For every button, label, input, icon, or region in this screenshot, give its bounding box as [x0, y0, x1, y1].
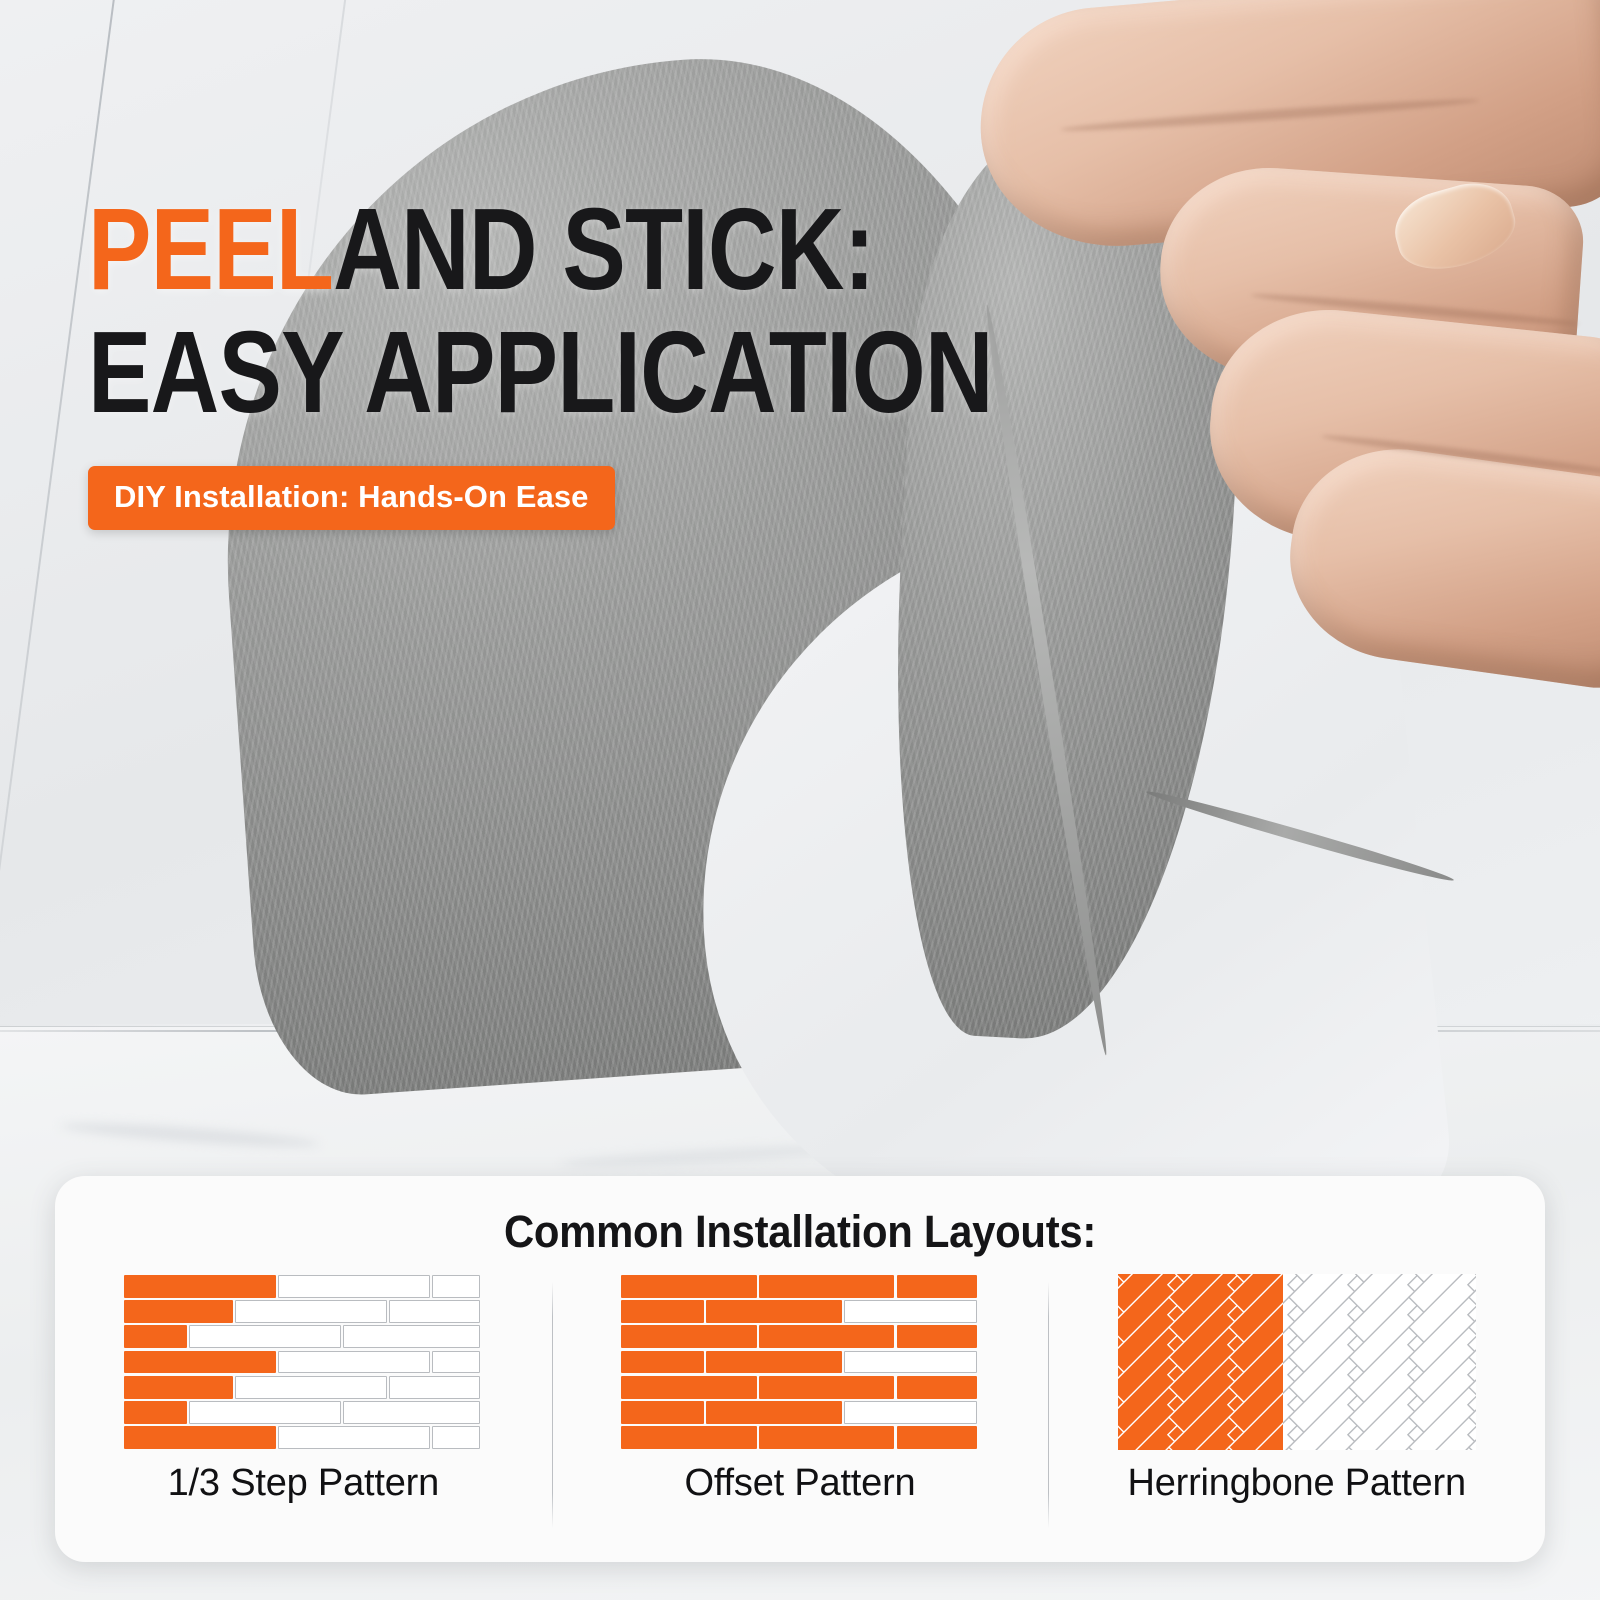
pattern-tile [432, 1426, 480, 1449]
pattern-columns: 1/3 Step Pattern Offset Pattern He [55, 1274, 1545, 1542]
pattern-label-step: 1/3 Step Pattern [168, 1462, 439, 1505]
pattern-tile [389, 1300, 480, 1323]
pattern-tile [124, 1325, 186, 1348]
pattern-tile [621, 1275, 757, 1298]
headline-line-1-rest: AND STICK: [333, 184, 874, 314]
pattern-tile [621, 1351, 704, 1374]
pattern-tile [759, 1325, 895, 1348]
card-title: Common Installation Layouts: [107, 1176, 1493, 1258]
pattern-tile [759, 1275, 895, 1298]
pattern-tile [124, 1376, 233, 1399]
pattern-tile [844, 1401, 977, 1424]
pattern-tile [897, 1426, 977, 1449]
pattern-tile [124, 1401, 186, 1424]
pattern-swatch-herringbone [1118, 1274, 1476, 1450]
pattern-tile [278, 1275, 430, 1298]
pattern-tile [706, 1351, 842, 1374]
pattern-tile [124, 1300, 233, 1323]
pattern-tile [759, 1376, 895, 1399]
pattern-tile [343, 1401, 480, 1424]
pattern-tile [621, 1426, 757, 1449]
pattern-label-herringbone: Herringbone Pattern [1127, 1462, 1465, 1505]
pattern-tile [432, 1275, 480, 1298]
headline-highlight-word: PEEL [88, 184, 333, 314]
pattern-swatch-step [124, 1274, 482, 1450]
headline-block: PEELAND STICK: EASY APPLICATION [88, 196, 1191, 425]
pattern-tile [621, 1300, 704, 1323]
pattern-swatch-offset [621, 1274, 979, 1450]
headline-line-2: EASY APPLICATION [88, 319, 993, 426]
pattern-tile [189, 1325, 341, 1348]
pattern-tile [189, 1401, 341, 1424]
herringbone-diagram [1118, 1274, 1476, 1450]
pattern-tile [759, 1426, 895, 1449]
headline-line-1: PEELAND STICK: [88, 196, 993, 303]
pattern-tile [621, 1376, 757, 1399]
pattern-tile [278, 1426, 430, 1449]
pattern-tile [621, 1401, 704, 1424]
pattern-tile [897, 1376, 977, 1399]
pattern-column-offset[interactable]: Offset Pattern [552, 1274, 1049, 1542]
ring-finger [1277, 435, 1600, 694]
pattern-tile [844, 1300, 977, 1323]
installation-layouts-card: Common Installation Layouts: 1/3 Step Pa… [55, 1176, 1545, 1562]
pattern-tile [343, 1325, 480, 1348]
pattern-tile [897, 1325, 977, 1348]
pattern-column-herringbone[interactable]: Herringbone Pattern [1048, 1274, 1545, 1542]
pattern-tile [844, 1351, 977, 1374]
pattern-column-step[interactable]: 1/3 Step Pattern [55, 1274, 552, 1542]
pattern-tile [706, 1401, 842, 1424]
pattern-tile [124, 1351, 276, 1374]
pattern-tile [432, 1351, 480, 1374]
pattern-tile [235, 1300, 387, 1323]
pattern-tile [278, 1351, 430, 1374]
pattern-tile [124, 1275, 276, 1298]
pattern-label-offset: Offset Pattern [685, 1462, 916, 1505]
pattern-tile [621, 1325, 757, 1348]
pattern-tile [235, 1376, 387, 1399]
diy-badge: DIY Installation: Hands-On Ease [88, 466, 615, 530]
pattern-tile [389, 1376, 480, 1399]
pattern-tile [706, 1300, 842, 1323]
pattern-tile [897, 1275, 977, 1298]
pattern-tile [124, 1426, 276, 1449]
